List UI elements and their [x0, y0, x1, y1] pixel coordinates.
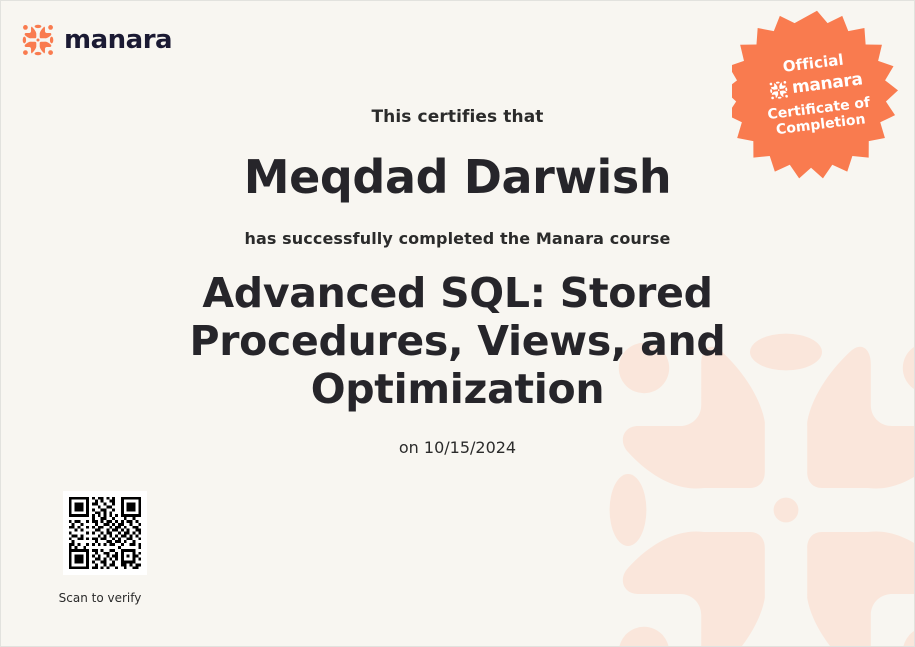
certificate-page: manara Official [0, 0, 915, 647]
brand-wordmark: manara [64, 27, 172, 53]
date-line: on 10/15/2024 [1, 438, 914, 457]
manara-flower-mark-icon [768, 80, 789, 101]
completion-line: has successfully completed the Manara co… [1, 229, 914, 248]
official-seal-badge: Official [732, 9, 902, 179]
manara-flower-mark-icon [21, 23, 55, 57]
seal-wordmark: manara [791, 72, 863, 98]
brand-header: manara [21, 23, 172, 57]
course-title: Advanced SQL: Stored Procedures, Views, … [1, 270, 914, 414]
qr-code-icon[interactable] [63, 491, 147, 575]
verification-block: Scan to verify [63, 491, 147, 605]
seal-content: Official [722, 0, 911, 189]
seal-top-label: Official [782, 51, 845, 75]
seal-bottom-label: Certificate of Completion [758, 94, 881, 141]
verification-caption: Scan to verify [53, 591, 147, 605]
